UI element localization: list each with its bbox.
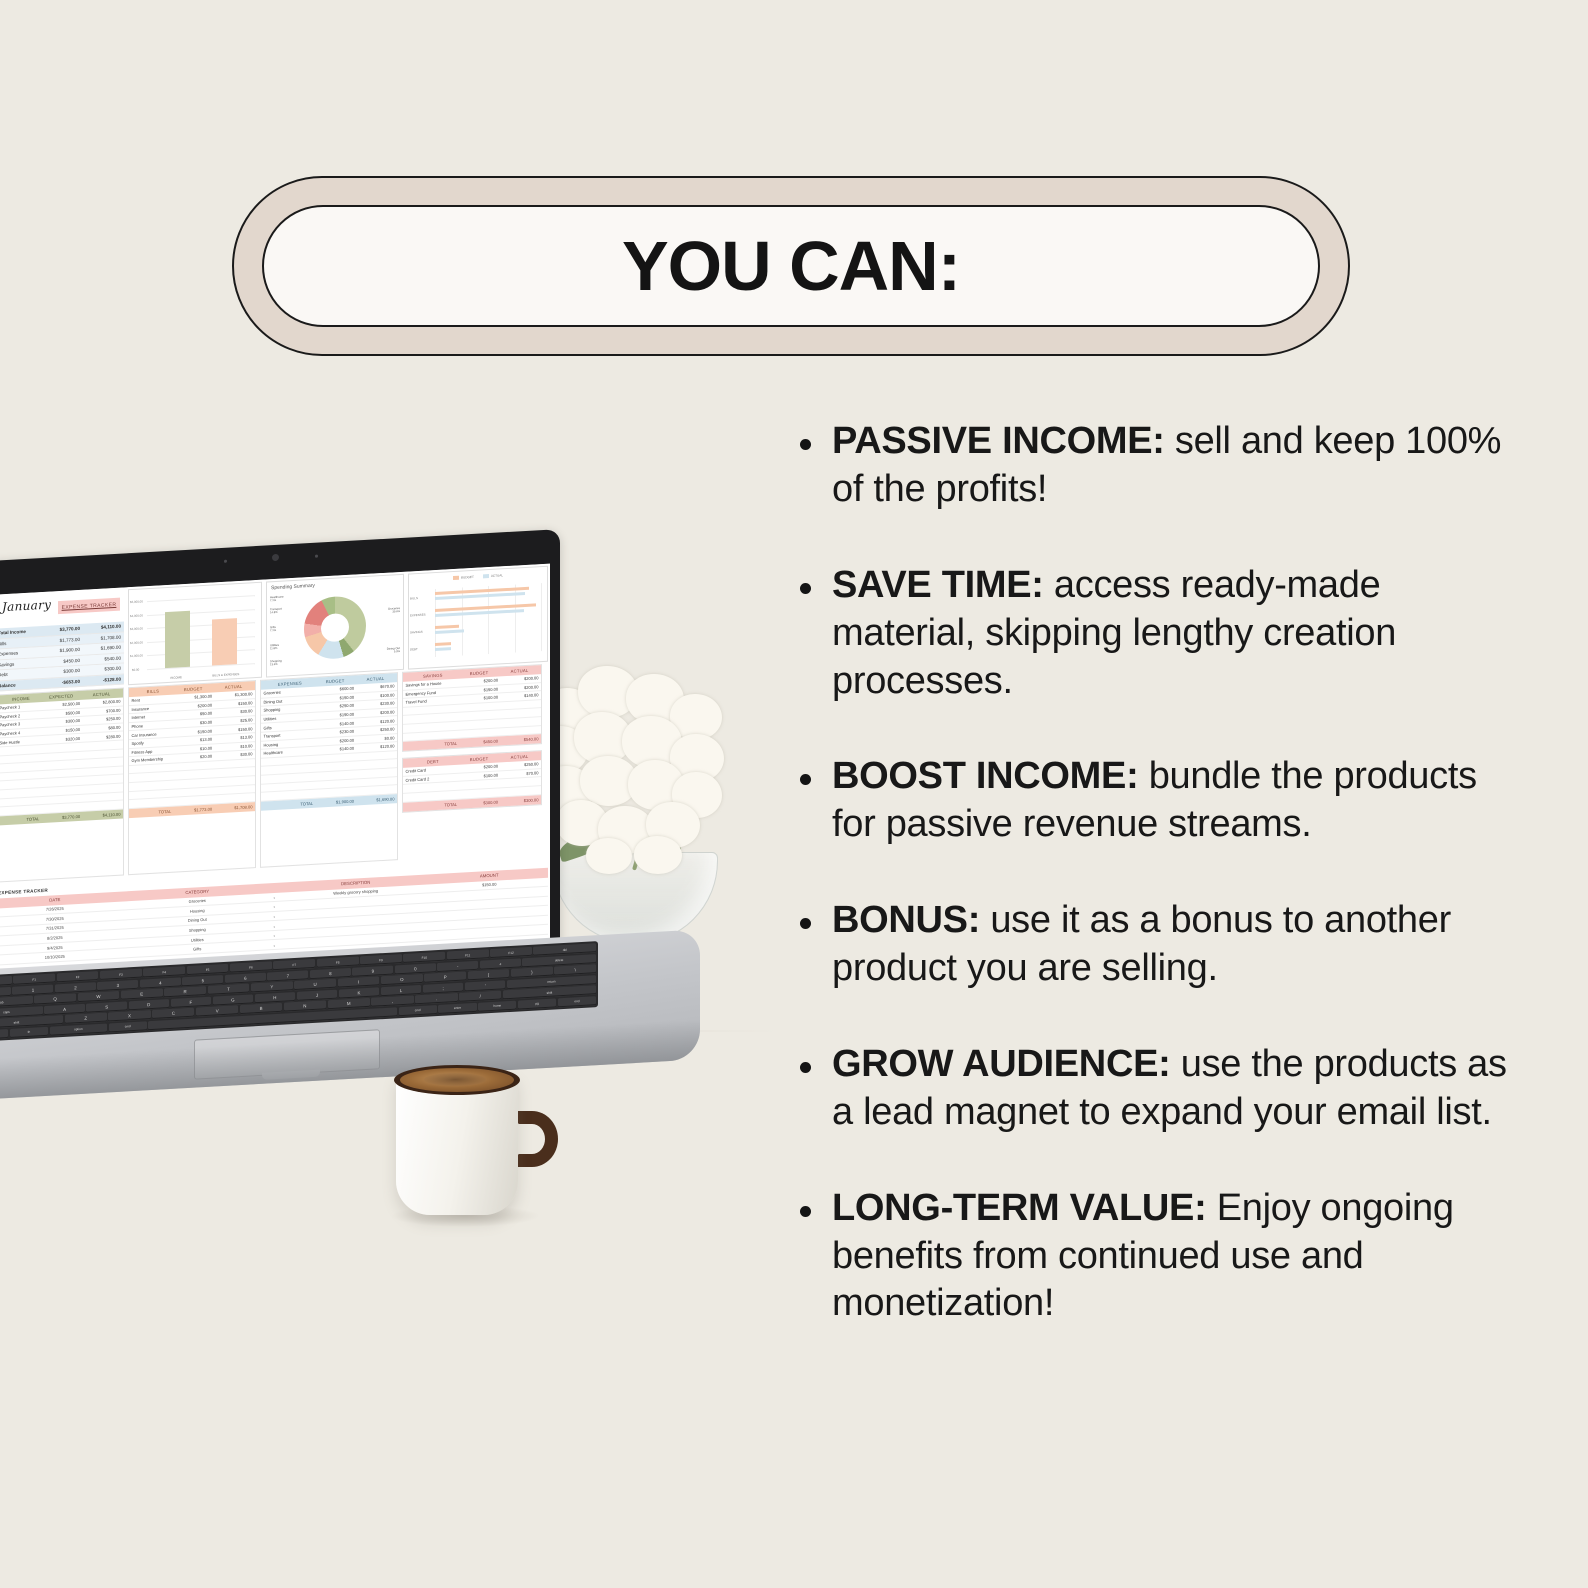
bullet-dot-icon — [800, 439, 811, 450]
summary-expected: -$653.00 — [42, 678, 83, 685]
donut-label-gifts: Gifts7.1% — [270, 626, 276, 633]
summary-label: Expenses — [0, 649, 42, 657]
summary-expected: $450.00 — [42, 657, 83, 664]
bar-income — [165, 611, 190, 668]
product-photo-scene: January EXPENSE TRACKER Total Income $3,… — [0, 520, 780, 1320]
list-item-text: BOOST INCOME: bundle the products for pa… — [832, 753, 1514, 849]
summary-actual: $4,110.00 — [83, 624, 124, 631]
lid-sensor-icon — [315, 555, 318, 558]
coffee-cup — [388, 1055, 568, 1240]
hbar-rows: BILLS EXPENSES SAVINGS — [435, 583, 541, 657]
list-item-lead: GROW AUDIENCE: — [832, 1043, 1171, 1085]
summary-expected: $3,770.00 — [42, 626, 83, 633]
laptop-screen: January EXPENSE TRACKER Total Income $3,… — [0, 564, 550, 973]
x-tick-label: INCOME — [149, 674, 203, 681]
budget-vs-actual-bar-chart: BUDGET ACTUAL BILLS — [408, 566, 548, 670]
y-tick-label: $3,000.00 — [130, 627, 143, 632]
list-item-text: GROW AUDIENCE: use the products as a lea… — [832, 1041, 1514, 1137]
spending-summary-donut-chart: Spending Summary Healthcare7.1% Transpor… — [266, 574, 404, 678]
income-vs-expenses-bar-chart: $5,000.00 $4,000.00 $3,000.00 $2,000.00 … — [128, 582, 262, 685]
list-item: GROW AUDIENCE: use the products as a lea… — [800, 1041, 1514, 1137]
list-item-lead: BOOST INCOME: — [832, 755, 1138, 797]
hydrangea-blooms — [530, 660, 735, 875]
list-item-lead: BONUS: — [832, 899, 980, 941]
bullet-dot-icon — [800, 918, 811, 929]
summary-actual: $1,690.00 — [83, 645, 124, 652]
list-item-lead: PASSIVE INCOME: — [832, 420, 1165, 462]
hbar-label: BILLS — [410, 596, 418, 600]
donut-label-utilities: Utilities11.8% — [270, 644, 279, 651]
summary-actual: $1,708.00 — [83, 634, 124, 641]
y-tick-label: $2,000.00 — [130, 640, 143, 645]
summary-expected: $300.00 — [42, 668, 83, 675]
header-pill-inner: YOU CAN: — [262, 205, 1320, 327]
spreadsheet-app: January EXPENSE TRACKER Total Income $3,… — [0, 564, 550, 973]
summary-expected: $1,900.00 — [42, 647, 83, 654]
summary-label: Bills — [0, 639, 42, 647]
list-item: PASSIVE INCOME: sell and keep 100% of th… — [800, 418, 1514, 514]
summary-label: Savings — [0, 660, 42, 668]
summary-expected: $1,773.00 — [42, 636, 83, 643]
savings-debt-column: SAVINGS BUDGET ACTUAL Savings for a Hous… — [402, 664, 542, 860]
bar-series — [153, 595, 248, 668]
donut-label-shopping: Shopping13.6% — [270, 660, 282, 668]
lid-sensor-icon — [224, 560, 227, 563]
summary-table: Total Income $3,770.00 $4,110.00 Bills $… — [0, 621, 124, 691]
bar-bills-expenses — [212, 618, 237, 666]
benefits-list: PASSIVE INCOME: sell and keep 100% of th… — [800, 418, 1514, 1376]
legend-budget: BUDGET — [453, 575, 474, 580]
y-tick-label: $0.00 — [132, 668, 139, 672]
donut-label-transport: Transport14.8% — [270, 608, 282, 616]
webcam-icon — [272, 554, 279, 561]
list-item: SAVE TIME: access ready-made material, s… — [800, 562, 1514, 706]
summary-label: Balance — [0, 681, 42, 689]
y-tick-label: $4,000.00 — [130, 613, 143, 618]
laptop-lid: January EXPENSE TRACKER Total Income $3,… — [0, 529, 560, 981]
summary-actual: -$128.00 — [83, 676, 124, 683]
poster-canvas: YOU CAN: PASSIVE INCOME: sell and keep 1… — [0, 0, 1588, 1588]
summary-label: Debt — [0, 670, 42, 678]
bills-table: BILLS BUDGET ACTUAL Rent$1,300.00$1,300.… — [128, 680, 256, 875]
donut-label-dining-out: Dining Out5.9% — [387, 647, 400, 655]
chevron-down-icon: ▾ — [273, 915, 275, 919]
list-item-lead: SAVE TIME: — [832, 564, 1044, 606]
summary-actual: $540.00 — [83, 655, 124, 662]
summary-actual: $300.00 — [83, 666, 124, 673]
page-title: YOU CAN: — [622, 231, 960, 301]
x-tick-label: BILLS & EXPENSES — [199, 671, 253, 678]
debt-table: DEBT BUDGET ACTUAL Credit Card$200.00$25… — [402, 750, 542, 812]
chevron-down-icon: ▾ — [273, 925, 275, 929]
bullet-dot-icon — [800, 1206, 811, 1217]
list-item-text: SAVE TIME: access ready-made material, s… — [832, 562, 1514, 706]
coffee-crema — [424, 1073, 486, 1086]
dashboard-tables-row: INCOME EXPECTED ACTUAL Paycheck 1$2,500.… — [0, 664, 548, 883]
legend-actual: ACTUAL — [483, 573, 503, 578]
list-item-text: PASSIVE INCOME: sell and keep 100% of th… — [832, 418, 1514, 514]
chevron-down-icon: ▾ — [273, 896, 275, 900]
chevron-down-icon: ▾ — [273, 934, 275, 938]
chart-title: Spending Summary — [267, 575, 403, 592]
bullet-dot-icon — [800, 1062, 811, 1073]
chevron-down-icon: ▾ — [273, 905, 275, 909]
bar-chart-plot: $5,000.00 $4,000.00 $3,000.00 $2,000.00 … — [147, 595, 255, 669]
y-tick-label: $1,000.00 — [130, 654, 143, 659]
hbar-label: SAVINGS — [410, 630, 423, 635]
list-item: BOOST INCOME: bundle the products for pa… — [800, 753, 1514, 849]
savings-table: SAVINGS BUDGET ACTUAL Savings for a Hous… — [402, 664, 542, 752]
income-table: INCOME EXPECTED ACTUAL Paycheck 1$2,500.… — [0, 687, 124, 882]
expense-tracker-tag: EXPENSE TRACKER — [58, 598, 120, 614]
list-item: BONUS: use it as a bonus to another prod… — [800, 897, 1514, 993]
summary-label: Total Income — [0, 628, 42, 636]
chevron-down-icon: ▾ — [273, 944, 275, 948]
list-item-text: LONG-TERM VALUE: Enjoy ongoing benefits … — [832, 1185, 1514, 1329]
list-item-text: BONUS: use it as a bonus to another prod… — [832, 897, 1514, 993]
bullet-dot-icon — [800, 583, 811, 594]
header-pill-outer: YOU CAN: — [232, 176, 1350, 356]
donut-label-groceries: Groceries39.6% — [388, 607, 400, 615]
donut-slices — [304, 595, 366, 660]
monthly-summary-panel: January EXPENSE TRACKER Total Income $3,… — [0, 589, 124, 692]
donut-label-healthcare: Healthcare7.1% — [270, 596, 284, 604]
y-tick-label: $5,000.00 — [130, 599, 143, 604]
bullet-dot-icon — [800, 774, 811, 785]
hbar-label: DEBT — [410, 647, 418, 651]
hbar-label: EXPENSES — [410, 613, 426, 618]
list-item: LONG-TERM VALUE: Enjoy ongoing benefits … — [800, 1185, 1514, 1329]
list-item-lead: LONG-TERM VALUE: — [832, 1187, 1206, 1229]
chart-legend: BUDGET ACTUAL — [409, 571, 547, 583]
expenses-table: EXPENSES BUDGET ACTUAL Groceries$600.00$… — [260, 672, 398, 868]
